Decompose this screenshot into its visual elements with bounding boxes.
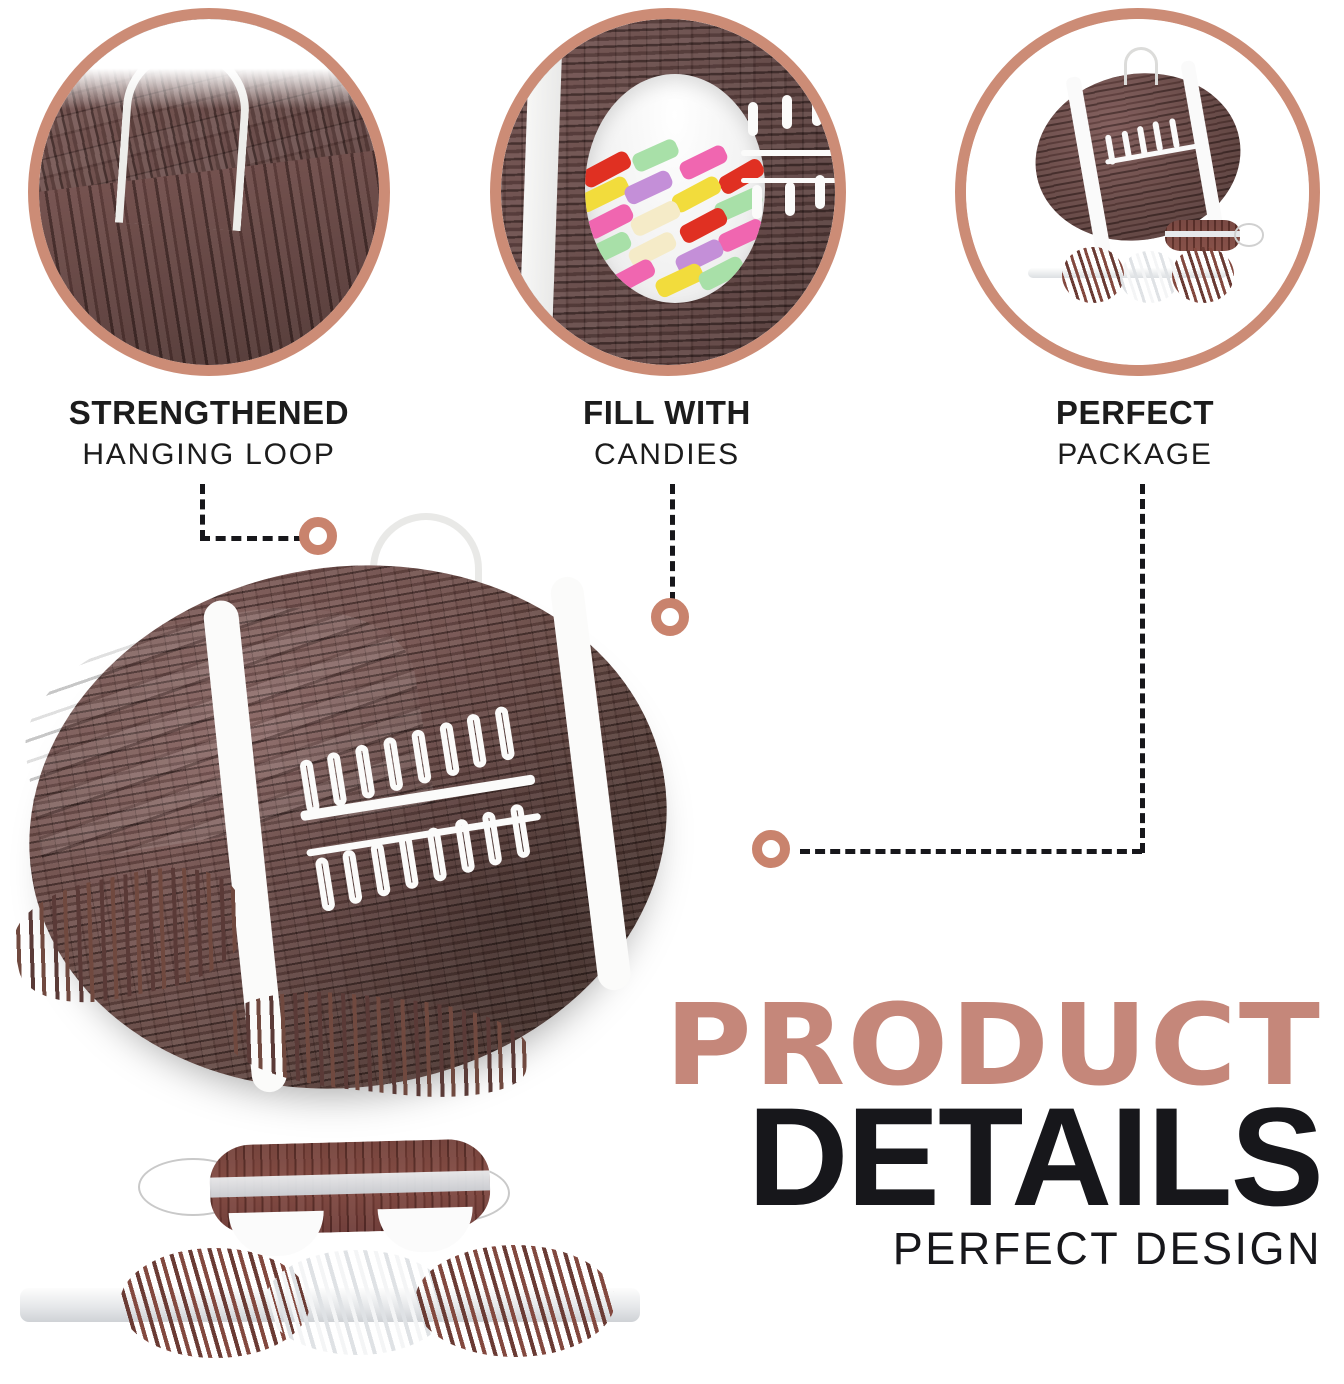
headline-details: DETAILS: [682, 1098, 1322, 1216]
feature-title: FILL WITH: [452, 396, 882, 431]
feature-image-hanging-loop: [39, 19, 379, 365]
connector-line-hanging-loop-horizontal: [200, 536, 304, 541]
lace-bar: [741, 150, 835, 156]
connector-node-package: [752, 830, 790, 868]
lace-stitch-icon: [752, 185, 762, 219]
stick-tuft-brown-right: [415, 1245, 615, 1357]
product-details-headline: PRODUCT DETAILS PERFECT DESIGN: [682, 998, 1322, 1273]
lace-stitch-icon: [748, 102, 758, 136]
infographic-root: STRENGTHENED HANGING LOOP FILL WITH CAND…: [0, 0, 1344, 1384]
connector-line-package-horizontal: [800, 849, 1142, 854]
lace-stitch-icon: [785, 182, 795, 216]
lace-stitch-icon: [782, 95, 792, 129]
lace-stitch-icon: [815, 175, 825, 209]
accessories-group: [20, 1130, 720, 1384]
feature-subtitle: HANGING LOOP: [0, 435, 424, 476]
lace-stitch-icon: [812, 92, 822, 126]
feature-image-candies: [501, 19, 835, 365]
connector-line-hanging-loop-vertical: [200, 484, 205, 540]
feature-title: STRENGTHENED: [0, 396, 424, 431]
mini-blindfold: [1165, 220, 1240, 251]
blindfold-stripe: [210, 1171, 490, 1198]
feature-label-perfect-package: PERFECT PACKAGE: [920, 396, 1344, 475]
headline-product: PRODUCT: [644, 998, 1322, 1094]
candy-opening: [585, 74, 765, 302]
hero-football-pinata: [18, 545, 678, 1120]
feature-circle-fill-with-candies: [490, 8, 846, 376]
mini-hanging-loop-icon: [1124, 47, 1158, 85]
connector-line-package-vertical: [1140, 484, 1145, 853]
feature-subtitle: CANDIES: [452, 435, 882, 476]
blindfold-lens-right: [378, 1207, 474, 1253]
feature-circle-perfect-package: [955, 8, 1320, 376]
mini-blindfold-strap: [1234, 223, 1265, 247]
feature-circle-hanging-loop: [28, 8, 390, 376]
feature-image-package: [966, 19, 1309, 365]
feature-subtitle: PACKAGE: [920, 435, 1344, 476]
feature-label-fill-with-candies: FILL WITH CANDIES: [452, 396, 882, 475]
feature-label-hanging-loop: STRENGTHENED HANGING LOOP: [0, 396, 424, 475]
blindfold: [209, 1138, 491, 1235]
feature-title: PERFECT: [920, 396, 1344, 431]
